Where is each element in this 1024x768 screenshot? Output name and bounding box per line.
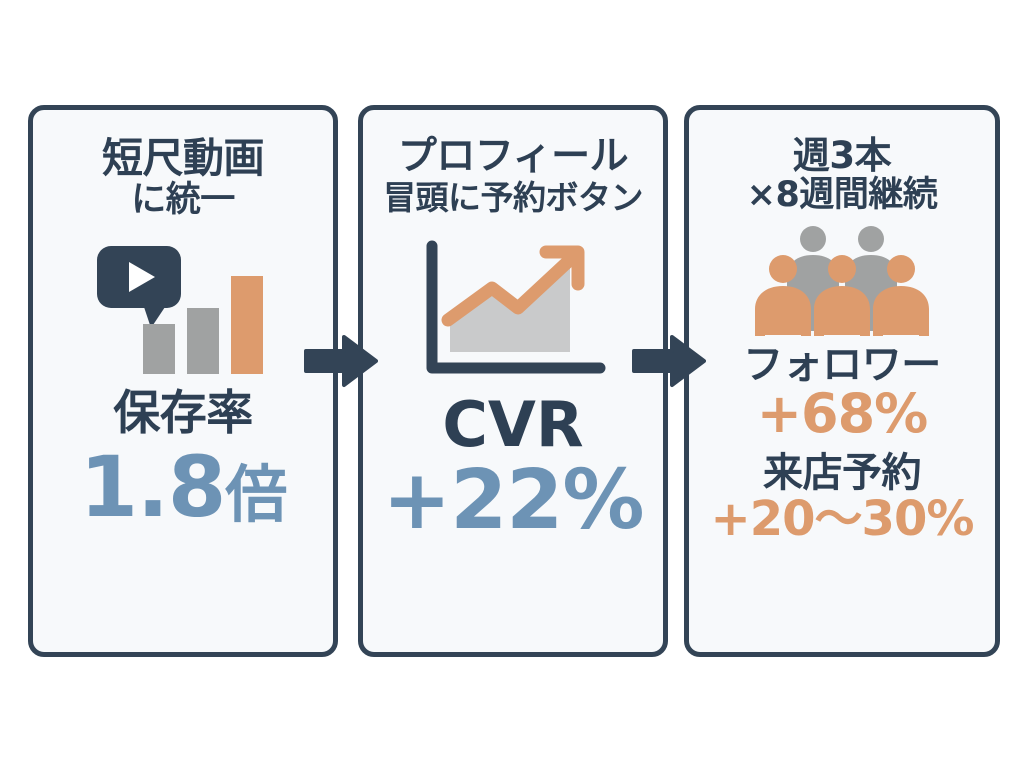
people-group-icon [747, 225, 937, 337]
step-3-metric-label-followers: フォロワー [743, 345, 941, 385]
step-card-3[interactable]: 週3本 ×8週間継続 [684, 105, 1000, 657]
step-1-metric-value: 1.8倍 [80, 445, 287, 529]
step-2-icon-zone [363, 230, 663, 380]
arrow-right-icon [632, 332, 706, 390]
step-1-heading-line-1: 短尺動画 [33, 136, 333, 180]
video-bars-icon [93, 242, 273, 374]
step-2-metric-label: CVR [442, 394, 583, 456]
step-1-icon-zone [33, 234, 333, 374]
step-3-icon-zone [689, 219, 995, 337]
step-3-metric-value-followers: +68% [757, 387, 928, 441]
flow-arrow-1 [304, 332, 378, 390]
infographic-canvas: 短尺動画 に統一 保存率 1.8倍 プロフィ [0, 0, 1024, 768]
arrow-right-icon [304, 332, 378, 390]
step-2-heading: プロフィール 冒頭に予約ボタン [363, 110, 663, 216]
step-3-metric-label-bookings: 来店予約 [763, 453, 921, 493]
growth-chart-icon [418, 240, 608, 380]
step-3-heading: 週3本 ×8週間継続 [689, 110, 995, 215]
step-1-metric-label: 保存率 [113, 390, 253, 437]
step-1-metric-number: 1.8 [80, 438, 226, 536]
step-card-2[interactable]: プロフィール 冒頭に予約ボタン CVR +22% [358, 105, 668, 657]
step-3-metric-value-bookings: +20〜30% [711, 495, 974, 543]
step-1-heading-line-2: に統一 [33, 182, 333, 220]
step-3-heading-line-2: ×8週間継続 [689, 177, 995, 215]
step-2-heading-line-1: プロフィール [363, 136, 663, 178]
step-2-metric-value: +22% [383, 460, 644, 542]
step-card-1[interactable]: 短尺動画 に統一 保存率 1.8倍 [28, 105, 338, 657]
flow-arrow-2 [632, 332, 706, 390]
step-2-heading-line-2: 冒頭に予約ボタン [363, 180, 663, 216]
step-1-metric-suffix: 倍 [225, 458, 286, 531]
step-3-heading-line-1: 週3本 [689, 136, 995, 176]
step-1-heading: 短尺動画 に統一 [33, 110, 333, 220]
